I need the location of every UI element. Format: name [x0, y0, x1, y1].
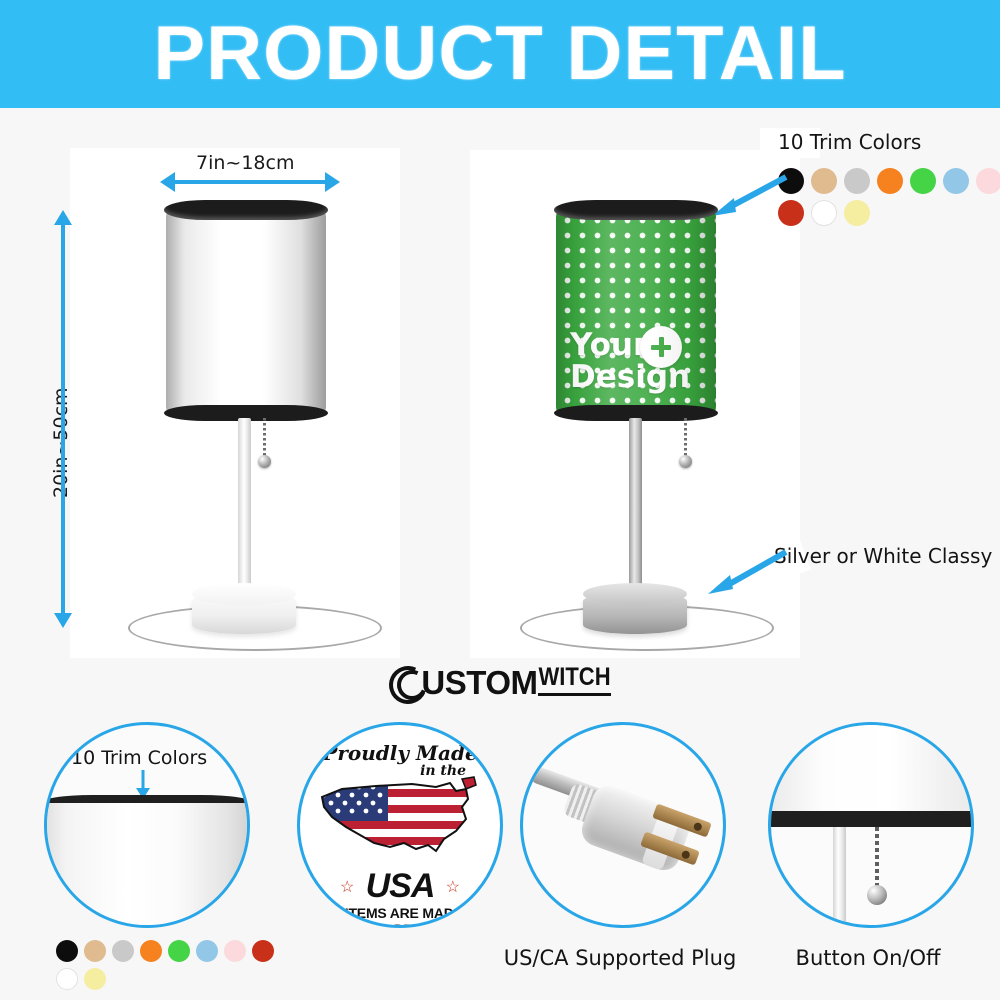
- feature-plug-caption: US/CA Supported Plug: [490, 946, 750, 970]
- trim-color-swatches-bottom[interactable]: [56, 940, 286, 996]
- base-finish-pointer-arrow: [700, 548, 792, 596]
- usa-script-top: Proudly Made: [300, 741, 500, 765]
- swatch-pink-2[interactable]: [224, 940, 246, 962]
- feature-switch-caption: Button On/Off: [738, 946, 998, 970]
- lamp-base-top-right: [583, 583, 687, 605]
- plug-prong-hole-top: [693, 822, 703, 832]
- pull-chain-icon[interactable]: [875, 827, 879, 889]
- brand-logo: USTOMWITCH: [0, 664, 1000, 702]
- usa-word: USA: [300, 867, 500, 906]
- lamp-pole-right: [629, 418, 642, 593]
- lampshade-right-trim-top: [554, 200, 718, 220]
- pull-chain-right[interactable]: [684, 418, 687, 460]
- usa-subtitle: ALL ITEMS ARE MADE TO ORDER!: [300, 905, 500, 928]
- swatch-pale-yellow-2[interactable]: [84, 968, 106, 990]
- feature-circle-made-in-usa: Proudly Made in the: [297, 722, 503, 928]
- plug-prong-hole-bottom: [681, 850, 691, 860]
- product-detail-page: PRODUCT DETAIL 10 Trim Colors 7in~18cm 2…: [0, 0, 1000, 1000]
- swatch-light-blue-2[interactable]: [196, 940, 218, 962]
- brand-name-secondary: WITCH: [538, 662, 610, 692]
- brand-underline: [538, 693, 610, 696]
- pull-chain-bead-right[interactable]: [679, 455, 692, 468]
- usa-map-flag-icon: [316, 773, 482, 865]
- swatch-black-2[interactable]: [56, 940, 78, 962]
- brand-name-secondary-wrap: WITCH: [538, 664, 610, 696]
- feature-circle-plug: [520, 722, 726, 928]
- feature-switch-shade: [768, 722, 974, 813]
- feature-circle-trim-colors: 10 Trim Colors: [44, 722, 250, 928]
- feature-switch-trim: [768, 811, 974, 827]
- feature-shade-body: [44, 803, 250, 928]
- lampshade-right: Your Design: [556, 208, 716, 416]
- base-finish-label: Silver or White Classy: [774, 544, 992, 568]
- feature-trim-colors-label: 10 Trim Colors: [71, 747, 207, 769]
- brand-name-main: USTOM: [421, 664, 537, 702]
- star-icon-right: ☆: [446, 877, 460, 897]
- swatch-tan-2[interactable]: [84, 940, 106, 962]
- swatch-brick-red-2[interactable]: [252, 940, 274, 962]
- lampshade-right-highlight: [556, 208, 716, 416]
- swatch-orange-2[interactable]: [140, 940, 162, 962]
- swatch-green-2[interactable]: [168, 940, 190, 962]
- c-monogram-icon: [389, 666, 423, 700]
- feature-switch-pole: [833, 827, 846, 927]
- swatch-gray-2[interactable]: [112, 940, 134, 962]
- pull-chain-bead-icon[interactable]: [867, 885, 887, 905]
- star-icon-left: ☆: [340, 877, 354, 897]
- feature-circle-switch: [768, 722, 974, 928]
- swatch-white-2[interactable]: [56, 968, 78, 990]
